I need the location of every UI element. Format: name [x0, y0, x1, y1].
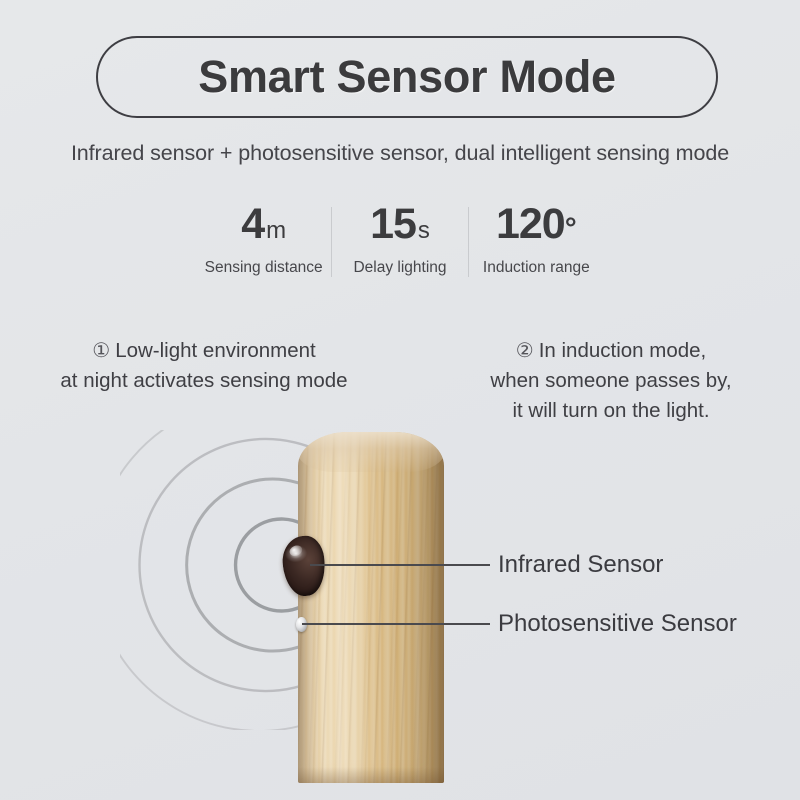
circled-number-1-icon: ① [92, 340, 110, 362]
spec-value: 15 s [370, 203, 430, 247]
wood-grain-texture [298, 432, 444, 783]
callout-label-photosensitive-sensor: Photosensitive Sensor [498, 610, 737, 638]
spec-number: 120 [496, 203, 565, 246]
cylinder-right-shading [410, 432, 444, 783]
callout-leader-line-photosensitive [302, 623, 490, 625]
page-title: Smart Sensor Mode [198, 51, 616, 103]
note-line: at night activates sensing mode [14, 366, 394, 396]
spec-row: 4 m Sensing distance 15 s Delay lighting… [196, 203, 604, 283]
note-induction-mode: ②In induction mode, when someone passes … [437, 336, 785, 426]
spec-unit: m [266, 219, 286, 243]
note-line: when someone passes by, [437, 366, 785, 396]
spec-unit: s [418, 219, 430, 243]
cylinder-left-shading [298, 432, 324, 783]
wood-cylinder-product [298, 432, 444, 783]
note-low-light-environment: ①Low-light environment at night activate… [14, 336, 394, 396]
spec-label: Delay lighting [353, 259, 446, 277]
sensor-glint-highlight [288, 544, 304, 558]
note-text: In induction mode, [539, 339, 707, 362]
callout-leader-line-infrared [310, 564, 490, 566]
cylinder-bottom-shading [298, 767, 444, 783]
circled-number-2-icon: ② [516, 340, 534, 362]
note-line: it will turn on the light. [437, 396, 785, 426]
callout-label-infrared-sensor: Infrared Sensor [498, 551, 663, 579]
spec-number: 4 [241, 203, 264, 246]
title-badge: Smart Sensor Mode [96, 36, 718, 118]
infographic-canvas: Smart Sensor Mode Infrared sensor + phot… [0, 0, 800, 800]
note-line: ①Low-light environment [14, 336, 394, 366]
note-line: ②In induction mode, [437, 336, 785, 366]
note-text: Low-light environment [115, 339, 316, 362]
cylinder-highlight [324, 432, 368, 783]
spec-label: Induction range [483, 259, 590, 277]
spec-item-delay-lighting: 15 s Delay lighting [332, 203, 467, 283]
spec-item-sensing-distance: 4 m Sensing distance [196, 203, 331, 283]
cylinder-top-cap [298, 432, 444, 472]
spec-item-induction-range: 120 ° Induction range [469, 203, 604, 283]
spec-number: 15 [370, 203, 416, 246]
spec-unit: ° [565, 214, 577, 244]
page-subtitle: Infrared sensor + photosensitive sensor,… [0, 141, 800, 166]
spec-value: 120 ° [496, 203, 577, 247]
spec-label: Sensing distance [205, 259, 323, 277]
spec-value: 4 m [241, 203, 286, 247]
